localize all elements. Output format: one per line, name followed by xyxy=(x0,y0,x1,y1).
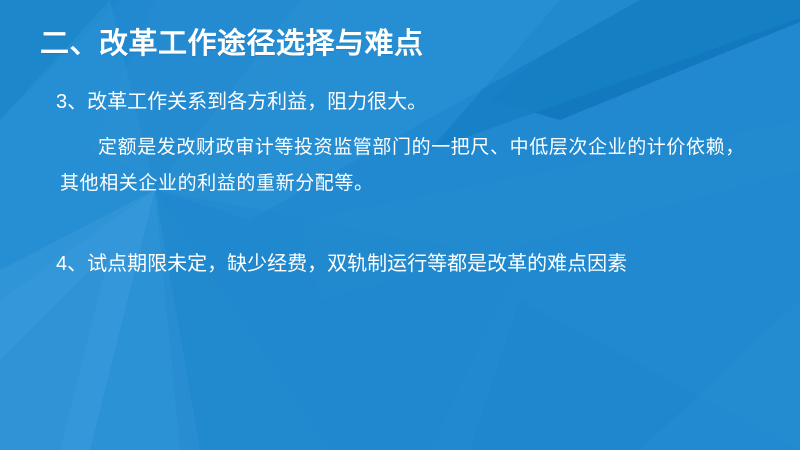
presentation-slide: 二、改革工作途径选择与难点 3、改革工作关系到各方利益，阻力很大。 定额是发改财… xyxy=(0,0,800,450)
bullet-item-4: 4、试点期限未定，缺少经费，双轨制运行等都是改革的难点因素 xyxy=(56,251,627,277)
body-paragraph: 定额是发改财政审计等投资监管部门的一把尺、中低层次企业的计价依赖，其他相关企业的… xyxy=(60,130,760,202)
bullet-item-3: 3、改革工作关系到各方利益，阻力很大。 xyxy=(56,89,427,115)
page-title: 二、改革工作途径选择与难点 xyxy=(40,26,424,62)
slide-content: 二、改革工作途径选择与难点 3、改革工作关系到各方利益，阻力很大。 定额是发改财… xyxy=(0,0,800,450)
